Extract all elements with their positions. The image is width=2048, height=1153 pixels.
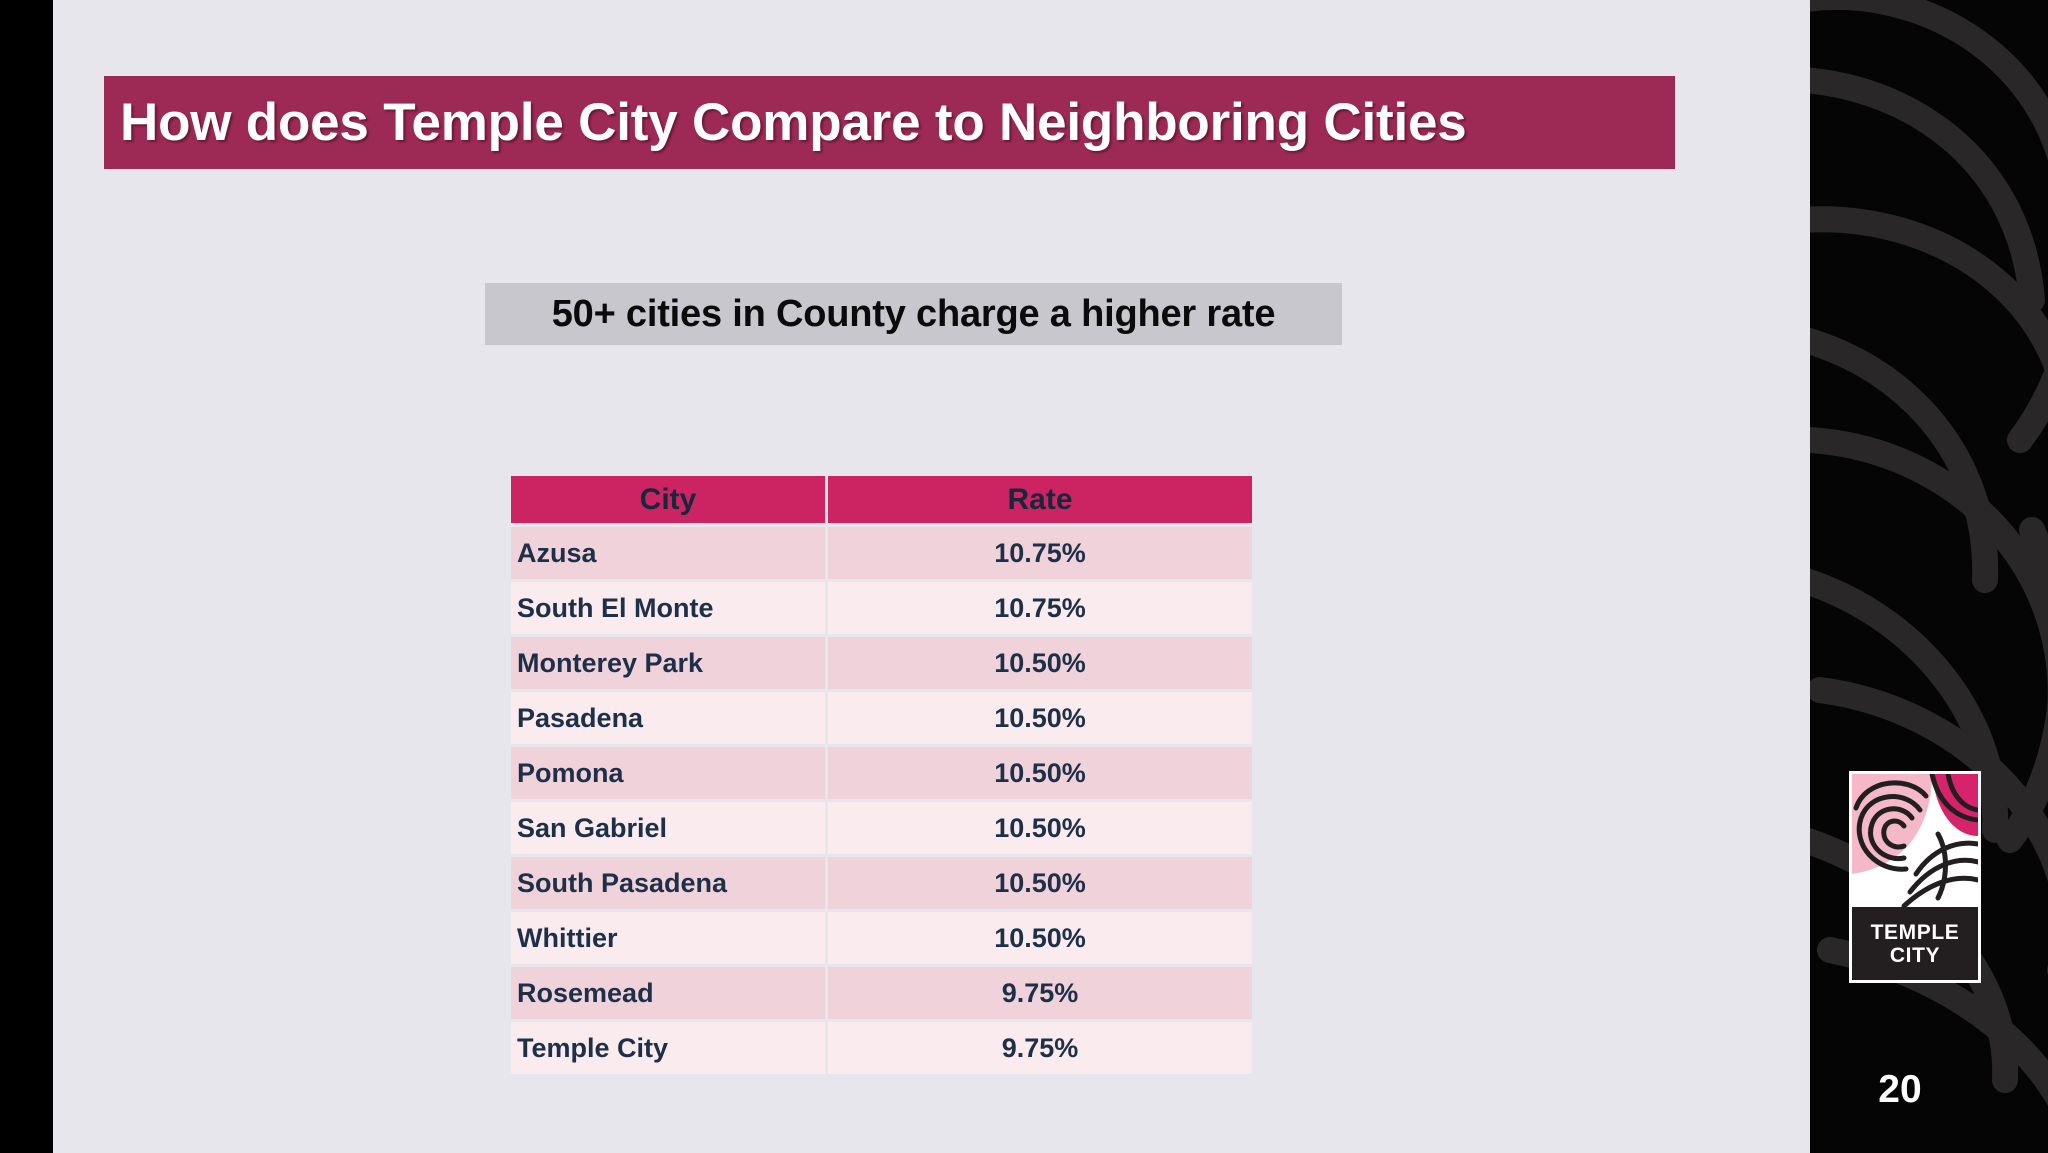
table-header-row: City Rate: [511, 476, 1252, 523]
table-row: South Pasadena 10.50%: [511, 857, 1252, 909]
slide-title-bar: How does Temple City Compare to Neighbor…: [104, 76, 1675, 169]
table-row: Pasadena 10.50%: [511, 692, 1252, 744]
column-header-rate: Rate: [828, 476, 1252, 523]
cell-city: Rosemead: [511, 967, 825, 1019]
table-row: Monterey Park 10.50%: [511, 637, 1252, 689]
cell-rate: 10.75%: [828, 582, 1252, 634]
page-title: How does Temple City Compare to Neighbor…: [104, 92, 1467, 153]
table-row: San Gabriel 10.50%: [511, 802, 1252, 854]
subtitle-banner: 50+ cities in County charge a higher rat…: [485, 283, 1342, 345]
cell-rate: 10.50%: [828, 637, 1252, 689]
table-row: Azusa 10.75%: [511, 527, 1252, 579]
cell-city: Whittier: [511, 912, 825, 964]
cell-city: Pomona: [511, 747, 825, 799]
table-row: Pomona 10.50%: [511, 747, 1252, 799]
left-black-band: [0, 0, 53, 1153]
cell-city: South El Monte: [511, 582, 825, 634]
cell-city: Temple City: [511, 1022, 825, 1074]
cell-city: San Gabriel: [511, 802, 825, 854]
table-row: Whittier 10.50%: [511, 912, 1252, 964]
page-number: 20: [1840, 1068, 1960, 1112]
rate-comparison-table: City Rate Azusa 10.75% South El Monte 10…: [511, 476, 1252, 1062]
cell-city: Monterey Park: [511, 637, 825, 689]
cell-rate: 10.50%: [828, 692, 1252, 744]
table-row: South El Monte 10.75%: [511, 582, 1252, 634]
temple-city-logo: TEMPLE CITY: [1849, 771, 1981, 983]
cell-rate: 10.50%: [828, 802, 1252, 854]
table-row: Rosemead 9.75%: [511, 967, 1252, 1019]
cell-city: South Pasadena: [511, 857, 825, 909]
cell-rate: 9.75%: [828, 967, 1252, 1019]
logo-wordmark: TEMPLE CITY: [1852, 907, 1978, 980]
cell-rate: 10.50%: [828, 912, 1252, 964]
logo-line-2: CITY: [1890, 945, 1940, 966]
table-row: Temple City 9.75%: [511, 1022, 1252, 1074]
cell-rate: 10.75%: [828, 527, 1252, 579]
subtitle-text: 50+ cities in County charge a higher rat…: [552, 293, 1276, 336]
cell-rate: 10.50%: [828, 747, 1252, 799]
slide-canvas: How does Temple City Compare to Neighbor…: [53, 0, 1810, 1153]
cell-city: Pasadena: [511, 692, 825, 744]
cell-rate: 9.75%: [828, 1022, 1252, 1074]
column-header-city: City: [511, 476, 825, 523]
logo-line-1: TEMPLE: [1871, 922, 1960, 943]
cell-city: Azusa: [511, 527, 825, 579]
cell-rate: 10.50%: [828, 857, 1252, 909]
rose-logo-icon: [1852, 774, 1978, 907]
